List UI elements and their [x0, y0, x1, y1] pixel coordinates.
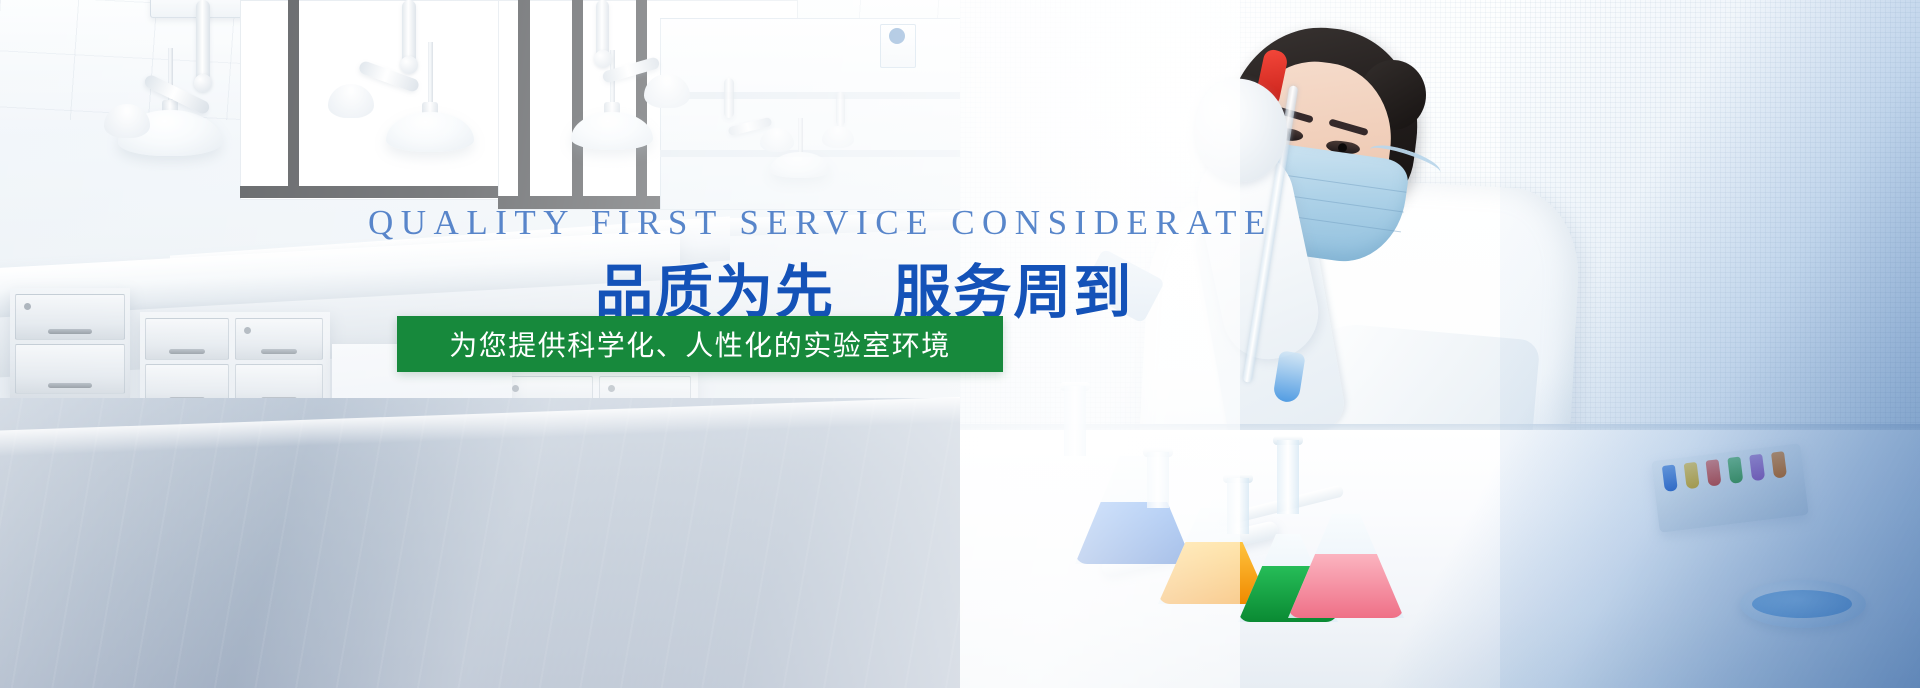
- hero-banner: QUALITY FIRST SERVICE CONSIDERATE 品质为先 服…: [0, 0, 1920, 688]
- banner-copy: QUALITY FIRST SERVICE CONSIDERATE 品质为先 服…: [0, 0, 1920, 688]
- banner-subtitle-text: 为您提供科学化、人性化的实验室环境: [449, 324, 951, 364]
- banner-eyebrow-english: QUALITY FIRST SERVICE CONSIDERATE: [368, 203, 1273, 243]
- banner-subtitle-band: 为您提供科学化、人性化的实验室环境: [397, 316, 1003, 372]
